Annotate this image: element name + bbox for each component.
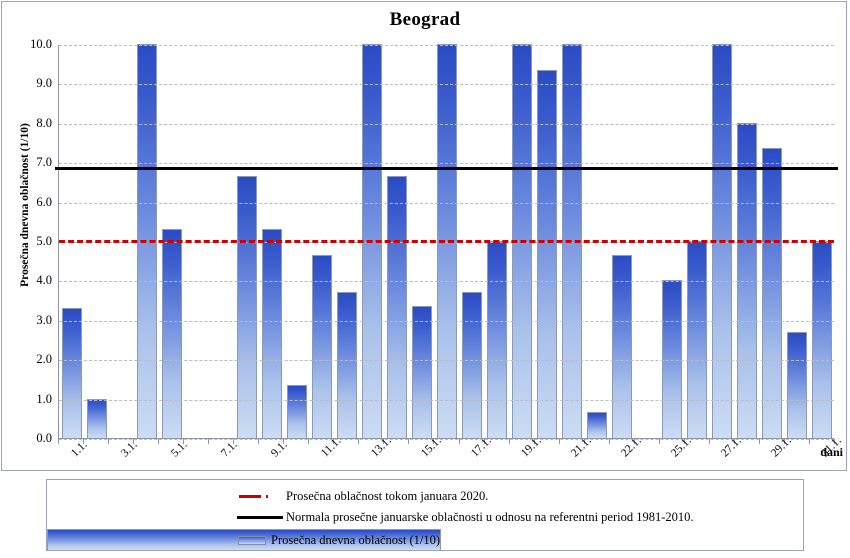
gridline: [59, 203, 834, 204]
bar: [537, 70, 557, 438]
legend-label-normal-reference: Normala prosečne januarske oblačnosti u …: [286, 510, 694, 525]
x-axis-tick-label: 11.1.: [319, 435, 343, 459]
bar-gradient-swatch-icon: [238, 536, 268, 545]
bar: [162, 229, 182, 438]
legend-item-normal-reference: Normala prosečne januarske oblačnosti u …: [47, 507, 803, 528]
y-axis-tick-label: 8.0: [10, 116, 52, 131]
y-axis-tick-label: 2.0: [10, 352, 52, 367]
reference-line-january-average: [59, 240, 834, 243]
bar: [762, 148, 782, 438]
x-axis-tick-label: 15.1.: [419, 435, 444, 460]
gridline: [59, 400, 834, 401]
bar: [787, 332, 807, 438]
chart-frame: Beograd Prosečna dnevna oblačnost (1/10)…: [1, 1, 847, 471]
bar: [62, 308, 82, 438]
y-axis-tick-label: 5.0: [10, 234, 52, 249]
legend-label-january-average: Prosečna oblačnost tokom januara 2020.: [286, 489, 488, 504]
gridline: [59, 84, 834, 85]
x-axis-tick-label: 13.1.: [369, 435, 394, 460]
y-axis-tick-label: 6.0: [10, 195, 52, 210]
y-axis-tick-label: 9.0: [10, 76, 52, 91]
black-line-swatch-icon: [237, 516, 283, 519]
x-axis-tick-label: 3.1.: [119, 439, 140, 460]
bar: [487, 241, 507, 438]
y-axis-tick-label: 4.0: [10, 273, 52, 288]
chart-page: Beograd Prosečna dnevna oblačnost (1/10)…: [0, 0, 850, 558]
bar: [812, 241, 832, 438]
bar: [337, 292, 357, 438]
x-axis-tick-label: 5.1.: [169, 439, 190, 460]
bar: [462, 292, 482, 438]
x-axis-tick-label: 21.1.: [569, 435, 594, 460]
legend-item-daily-cloudiness: Prosečna dnevna oblačnost (1/10): [47, 529, 441, 550]
bar: [687, 241, 707, 438]
y-axis-tick-label: 1.0: [10, 392, 52, 407]
x-axis-tick-label: 27.1.: [719, 435, 744, 460]
bar: [412, 306, 432, 438]
x-axis-tick-labels: dani 1.1.3.1.5.1.7.1.9.1.11.1.13.1.15.1.…: [2, 439, 848, 474]
bar: [287, 385, 307, 438]
gridline: [59, 45, 834, 46]
y-axis-tick-label: 7.0: [10, 155, 52, 170]
x-axis-tick-label: 1.1.: [69, 439, 90, 460]
reference-line-normal: [55, 167, 838, 170]
red-dashed-line-swatch-icon: [237, 495, 283, 499]
x-axis-tick-label: 9.1.: [269, 439, 290, 460]
x-axis-tick-label: 19.1.: [519, 435, 544, 460]
legend-label-daily-cloudiness: Prosečna dnevna oblačnost (1/10): [271, 533, 440, 548]
chart-title: Beograd: [2, 9, 848, 31]
gridline: [59, 163, 834, 164]
gridline: [59, 281, 834, 282]
y-axis-tick-label: 10.0: [10, 37, 52, 52]
bar: [87, 399, 107, 438]
bar: [587, 412, 607, 438]
x-axis-tick-label: 25.1.: [669, 435, 694, 460]
gridline: [59, 124, 834, 125]
plot-area: [58, 45, 834, 439]
x-axis-tick-label: 29.1.: [769, 435, 794, 460]
gridline: [59, 360, 834, 361]
legend-item-january-average: Prosečna oblačnost tokom januara 2020.: [47, 486, 803, 507]
y-axis-tick-label: 3.0: [10, 313, 52, 328]
x-axis-tick-label: 22.1.: [619, 435, 644, 460]
x-axis-tick-label: 7.1.: [219, 439, 240, 460]
gridline: [59, 321, 834, 322]
x-axis-tick-label: 17.1.: [469, 435, 494, 460]
bar: [262, 229, 282, 438]
chart-legend: Prosečna dnevna oblačnost (1/10) Prosečn…: [46, 479, 804, 551]
